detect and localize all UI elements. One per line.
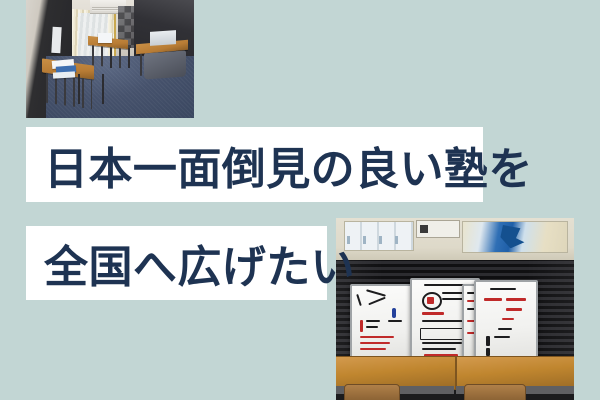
wall-map xyxy=(462,221,568,253)
headline-line2: 全国へ広げたい xyxy=(44,231,355,295)
chair-right xyxy=(464,384,526,400)
headline-band-line2: 全国へ広げたい xyxy=(26,226,327,300)
textbook-bottom xyxy=(53,71,75,78)
header-image-canvas: 日本一面倒見の良い塾を 全国へ広げたい xyxy=(0,0,600,400)
bag-on-chair xyxy=(144,51,186,80)
laptop xyxy=(150,30,176,46)
headline-band-line1: 日本一面倒見の良い塾を xyxy=(26,127,483,202)
whiteboard-left xyxy=(350,284,414,362)
desk-paper xyxy=(98,33,112,43)
whiteboard-right xyxy=(474,280,538,362)
study-room-photo xyxy=(26,0,194,118)
wall-notice xyxy=(51,27,61,53)
chair-left xyxy=(344,384,400,400)
whiteboards-photo xyxy=(336,218,574,400)
chair-front xyxy=(78,74,104,104)
headline-line1: 日本一面倒見の良い塾を xyxy=(44,133,533,197)
wall-sign-center xyxy=(416,220,460,238)
chair-back xyxy=(110,48,130,68)
